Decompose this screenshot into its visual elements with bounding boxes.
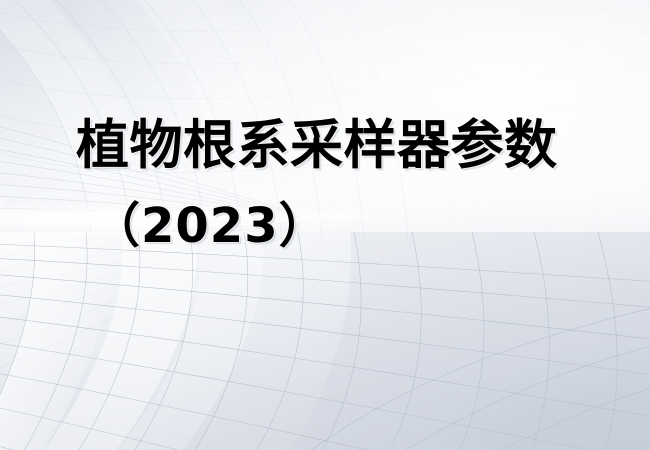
- slide-title-year: （2023）: [92, 202, 328, 250]
- slide-title-block: 植物根系采样器参数 （2023）: [0, 0, 650, 450]
- title-slide: 植物根系采样器参数 （2023）: [0, 0, 650, 450]
- slide-title-main: 植物根系采样器参数: [76, 119, 558, 172]
